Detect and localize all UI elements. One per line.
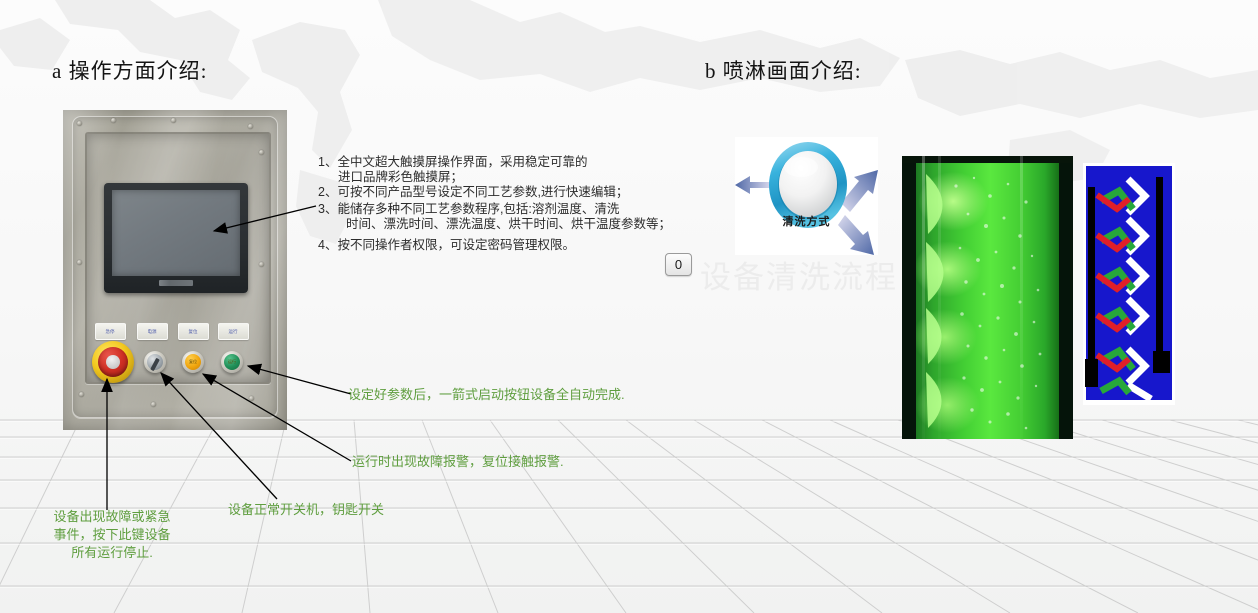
callout-start-button: 设定好参数后，一箭式启动按钮设备全自动完成.	[348, 386, 625, 404]
watermark-caption: 设备清洗流程	[700, 252, 898, 297]
callout-key-switch: 设备正常开关机，钥匙开关	[228, 501, 384, 519]
callout-estop-line-3: 所有运行停止.	[38, 544, 186, 562]
spray-chamber-photo	[902, 156, 1073, 439]
leader-to-key-switch	[161, 373, 277, 499]
slide-canvas: a 操作方面介绍: b 喷淋画面介绍: 急停 电源 复位	[0, 0, 1258, 613]
arrow-left-icon	[735, 176, 771, 194]
spray-droplets	[916, 156, 1059, 439]
leader-to-run-button	[248, 366, 351, 394]
callout-estop-line-1: 设备出现故障或紧急	[38, 508, 186, 526]
nozzle-schematic-graphic	[1083, 163, 1175, 405]
flow-circle-label: 清洗方式	[735, 213, 878, 229]
leader-to-touchscreen	[214, 206, 316, 231]
callout-estop-line-2: 事件，按下此键设备	[38, 526, 186, 544]
flow-diagram-card: 清洗方式	[735, 137, 878, 255]
callout-emergency-stop: 设备出现故障或紧急 事件，按下此键设备 所有运行停止.	[38, 508, 186, 562]
counter-button[interactable]: 0	[665, 253, 692, 276]
nozzle-schematic	[1083, 163, 1175, 405]
callout-reset-button: 运行时出现故障报警，复位接触报警.	[352, 453, 564, 471]
flow-diagram-graphic	[735, 137, 878, 255]
leader-to-reset-button	[203, 374, 351, 461]
